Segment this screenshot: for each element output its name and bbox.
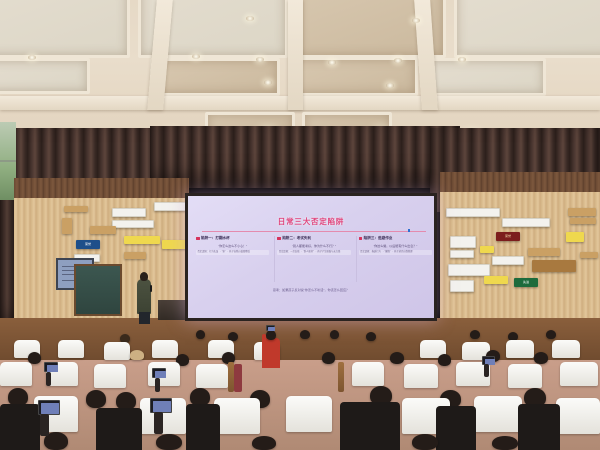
downlight — [394, 58, 402, 63]
wall-plaque — [528, 248, 560, 256]
plaque-label: 荣誉 — [85, 243, 91, 247]
downlight — [256, 57, 264, 62]
downlight — [458, 57, 466, 62]
wall-plaque — [62, 218, 72, 234]
wall-plaque — [112, 208, 146, 217]
phone-icon — [152, 368, 166, 378]
wall-plaque — [570, 218, 596, 224]
downlight — [328, 60, 336, 65]
ceiling-coffer — [426, 58, 546, 96]
ceiling-beam — [288, 0, 303, 110]
downlight — [412, 18, 420, 23]
slide-footer: 思考：如果孩子反对说“你怎么不听话”，你该怎么回应？ — [188, 287, 434, 292]
wall-plaque — [64, 206, 88, 212]
wall-plaque — [492, 256, 524, 265]
cursor-indicator — [408, 229, 410, 232]
slide-column-2: 陷阱二：考试失利 “别人都能考好，你为什么不行？” 否定逻辑：一次失败 → “别… — [274, 236, 352, 282]
stage-curtain-top — [150, 126, 460, 188]
wall-plaque — [450, 250, 474, 258]
column-title: 陷阱三：逃避作业 — [364, 236, 393, 241]
projection-screen: 日常三大否定陷阱 陷阱一：打翻水杯 “你怎么这么不小心！” 否定逻辑：行为失误 … — [185, 193, 437, 321]
downlight — [386, 83, 394, 88]
column-quote: “你这么懒，以后能有什么出息？” — [359, 244, 432, 248]
downlight — [192, 54, 200, 59]
wall-plaque — [450, 280, 474, 292]
phone-icon — [266, 325, 275, 331]
wall-plaque — [446, 208, 500, 217]
wall-trim-right — [440, 172, 600, 192]
trap-marker-icon — [196, 237, 200, 241]
slide-columns: 陷阱一：打翻水杯 “你怎么这么不小心！” 否定逻辑：行为失误 → “笨” → 孩… — [194, 236, 434, 282]
trap-marker-icon — [277, 237, 281, 241]
column-note: 否定逻辑：一次失败 → “别人更好” → 孩子产生翞耻与无力感 — [277, 250, 350, 255]
column-title: 陷阱二：考试失利 — [282, 236, 311, 241]
wall-plaque — [90, 226, 116, 234]
downlight — [264, 80, 272, 85]
column-quote: “你怎么这么不小心！” — [196, 244, 269, 248]
wall-plaque-honor: 荣誉 — [496, 232, 520, 241]
column-note: 否定逻辑：拖延行为 → “懒惰” → 孩子放弃自我管理 — [359, 250, 432, 255]
downlight — [28, 55, 36, 60]
wall-plaque — [484, 276, 508, 284]
presenter-head — [140, 272, 148, 281]
ceiling-coffer — [0, 58, 90, 94]
wall-plaque — [568, 208, 596, 216]
phone-icon — [44, 362, 58, 372]
ceiling-coffer — [454, 0, 600, 58]
presenter-legs — [139, 312, 150, 324]
audience-member-hat — [130, 350, 144, 360]
microphone-icon — [150, 285, 152, 292]
column-quote: “别人都能考好，你为什么不行？” — [277, 244, 350, 248]
wall-plaque — [154, 202, 186, 211]
column-title: 陷阱一：打翻水杯 — [201, 236, 230, 241]
phone-icon — [150, 398, 172, 413]
trap-marker-icon — [359, 237, 363, 241]
wall-plaque — [580, 252, 598, 258]
downlight — [246, 16, 254, 21]
plaque-label: 先进 — [523, 281, 529, 285]
wall-plaque-honor: 荣誉 — [76, 240, 100, 249]
wall-plaque — [124, 236, 160, 244]
slide-column-3: 陷阱三：逃避作业 “你这么懒，以后能有什么出息？” 否定逻辑：拖延行为 → “懒… — [356, 236, 434, 282]
ceiling-coffer — [0, 0, 130, 58]
blackboard — [74, 264, 122, 316]
ceiling-coffer — [150, 58, 280, 96]
plaque-label: 荣誉 — [505, 235, 511, 239]
column-note: 否定逻辑：行为失误 → “笨” → 孩子自我价值感降低 — [196, 250, 269, 255]
wall-plaque — [532, 260, 576, 272]
wall-trim-left — [14, 178, 189, 198]
presenter — [137, 279, 151, 314]
auditorium-photo: 荣誉 荣誉 先进 — [0, 0, 600, 450]
wall-plaque-advanced: 先进 — [514, 278, 538, 287]
wall-plaque — [448, 264, 490, 276]
slide-canvas: 日常三大否定陷阱 陷阱一：打翻水杯 “你怎么这么不小心！” 否定逻辑：行为失误 … — [188, 196, 434, 318]
wall-plaque — [450, 236, 476, 248]
slide-divider — [202, 231, 426, 232]
wall-plaque — [566, 232, 584, 242]
wall-plaque — [502, 218, 550, 227]
wall-plaque — [124, 252, 146, 259]
phone-icon — [38, 400, 60, 415]
slide-title: 日常三大否定陷阱 — [188, 216, 434, 227]
wall-plaque — [112, 220, 154, 228]
wall-plaque — [480, 246, 494, 253]
slide-column-1: 陷阱一：打翻水杯 “你怎么这么不小心！” 否定逻辑：行为失误 → “笨” → 孩… — [194, 236, 271, 282]
